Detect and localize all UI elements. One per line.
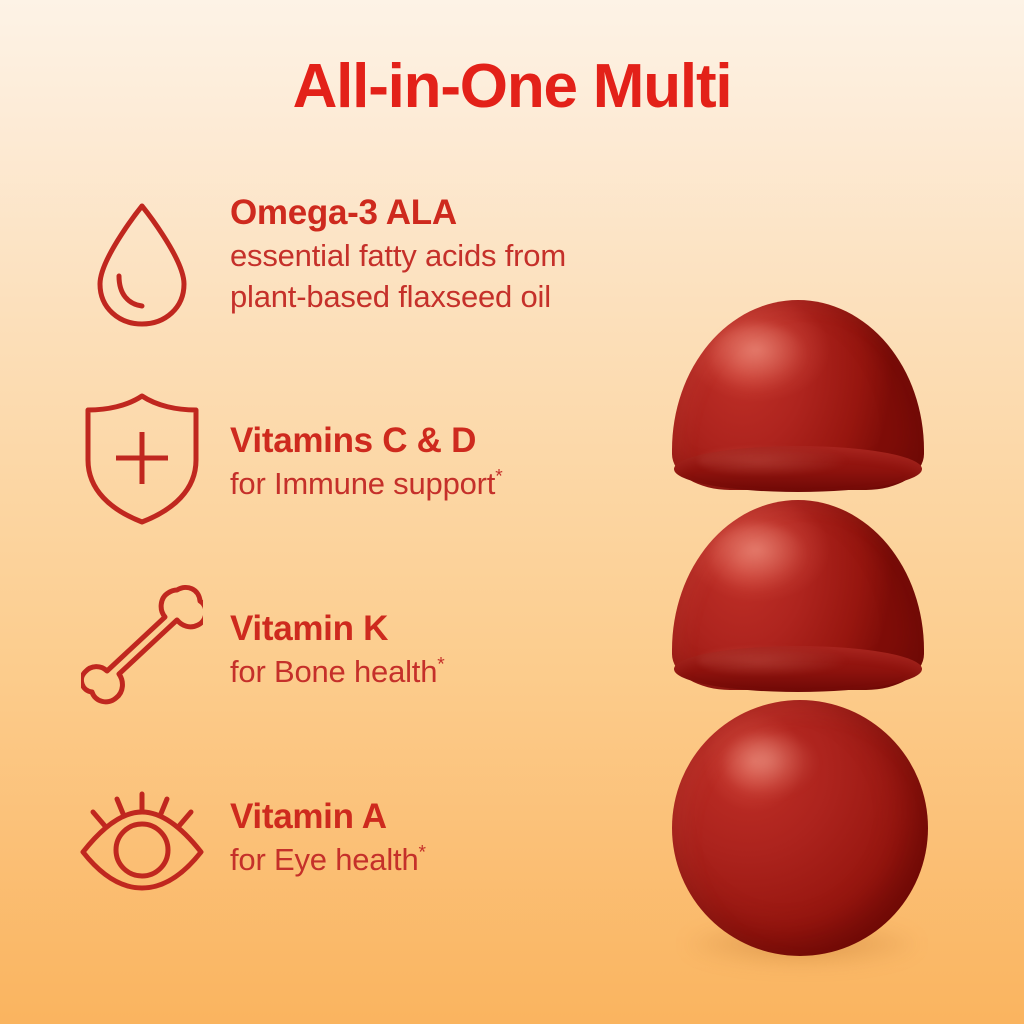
eye-icon bbox=[72, 780, 212, 920]
feature-item-vitamin-k: Vitamin K for Bone health* bbox=[72, 560, 672, 752]
gummy-dome-top bbox=[672, 300, 924, 490]
gummy-sphere-bottom bbox=[672, 700, 928, 956]
gummy-lower-highlight bbox=[698, 446, 848, 476]
feature-desc-line-1: for Bone health bbox=[230, 654, 437, 689]
feature-title: Vitamins C & D bbox=[230, 420, 672, 461]
feature-desc-line-1: essential fatty acids from bbox=[230, 238, 566, 273]
gummy-highlight bbox=[724, 734, 816, 796]
page-title: All-in-One Multi bbox=[0, 56, 1024, 118]
gummy-dome-middle bbox=[672, 500, 924, 690]
bone-icon bbox=[72, 582, 212, 722]
feature-title: Omega-3 ALA bbox=[230, 192, 672, 233]
feature-desc-line-1: for Eye health bbox=[230, 842, 418, 877]
feature-desc-line-1: for Immune support bbox=[230, 466, 495, 501]
feature-item-omega-3-ala: Omega-3 ALA essential fatty acids from p… bbox=[72, 192, 672, 368]
feature-list: Omega-3 ALA essential fatty acids from p… bbox=[72, 192, 672, 922]
feature-text-vitamins-c-and-d: Vitamins C & D for Immune support* bbox=[230, 368, 672, 505]
feature-title: Vitamin K bbox=[230, 608, 672, 649]
gummy-highlight bbox=[710, 524, 806, 590]
feature-asterisk: * bbox=[437, 655, 444, 676]
product-gummy-stack bbox=[672, 300, 952, 960]
feature-desc-line-2: plant-based flaxseed oil bbox=[230, 279, 551, 314]
feature-text-omega-3-ala: Omega-3 ALA essential fatty acids from p… bbox=[230, 192, 672, 317]
feature-description: for Eye health* bbox=[230, 840, 672, 880]
gummy-highlight bbox=[710, 324, 806, 390]
feature-title: Vitamin A bbox=[230, 796, 672, 837]
gummy-body bbox=[672, 700, 928, 956]
feature-description: for Immune support* bbox=[230, 464, 672, 504]
shield-plus-icon bbox=[72, 392, 212, 532]
feature-item-vitamin-a: Vitamin A for Eye health* bbox=[72, 752, 672, 922]
gummy-lower-highlight bbox=[698, 646, 848, 676]
droplet-icon bbox=[72, 198, 212, 338]
product-feature-poster: All-in-One Multi Omega-3 ALA essential f… bbox=[0, 0, 1024, 1024]
feature-text-vitamin-k: Vitamin K for Bone health* bbox=[230, 560, 672, 693]
feature-description: for Bone health* bbox=[230, 652, 672, 692]
feature-item-vitamins-c-and-d: Vitamins C & D for Immune support* bbox=[72, 368, 672, 560]
feature-text-vitamin-a: Vitamin A for Eye health* bbox=[230, 752, 672, 881]
feature-asterisk: * bbox=[495, 467, 502, 488]
feature-asterisk: * bbox=[418, 843, 425, 864]
feature-description: essential fatty acids from plant-based f… bbox=[230, 236, 672, 317]
